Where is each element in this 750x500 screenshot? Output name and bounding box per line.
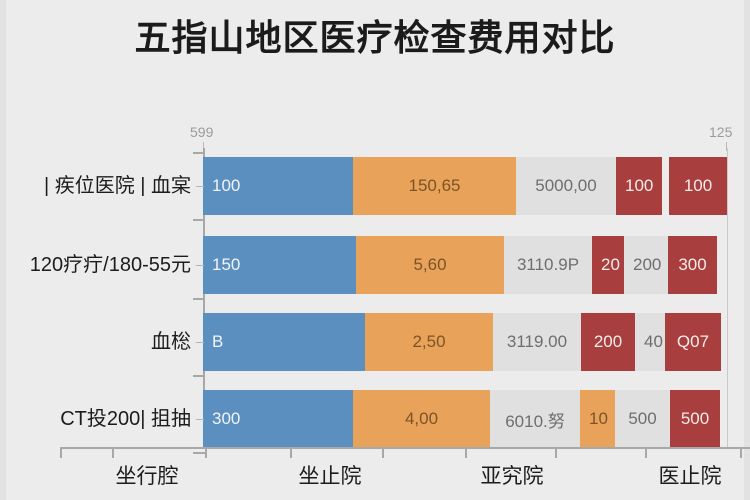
bar-segment-value: 200: [624, 255, 668, 275]
x-axis-tick-label: 医止院: [659, 460, 722, 490]
bar-segment-red[interactable]: Q07: [665, 313, 721, 371]
bar-segment-value: 150: [203, 255, 249, 275]
bar-segment-orange[interactable]: 150,65: [353, 157, 516, 215]
bar-segment-value: 150,65: [353, 176, 516, 196]
chart-container: 五指山地区医疗检查费用对比 599 125 100150,655000,0010…: [0, 0, 750, 500]
x-axis-tick-label: 坐行腔: [116, 460, 179, 490]
bar-segment-value: Q07: [665, 332, 721, 352]
y-axis-tick: [196, 265, 204, 266]
top-axis-tick-label-left: 599: [190, 124, 213, 140]
bar-segment-gray[interactable]: 40: [635, 313, 665, 371]
category-label: | 疾位医院 | 血宲: [0, 173, 191, 199]
bar-segment-value: 300: [203, 409, 249, 429]
category-label: 120疗疔/180-55元: [0, 252, 191, 278]
bar-segment-gray[interactable]: 200: [624, 236, 668, 294]
bar-segment-value: 6010.努: [490, 407, 580, 432]
y-axis-major-tick: [193, 298, 205, 300]
category-label: 血棇: [0, 329, 191, 355]
bar-segment-value: 20: [592, 255, 624, 275]
bar-segment-gray[interactable]: 3119.00: [493, 313, 581, 371]
plot-area: 100150,655000,001001001505,603110.9P2020…: [203, 150, 727, 446]
bar-segment-value: 3110.9P: [504, 255, 592, 275]
bar-segment-value: 3119.00: [493, 332, 581, 352]
bar-segment-value: 4,00: [353, 409, 490, 429]
bar-segment-orange[interactable]: 4,00: [353, 390, 490, 448]
x-axis-tick: [205, 447, 207, 458]
y-axis-tick: [196, 342, 204, 343]
bar-row[interactable]: B2,503119.0020040Q07: [203, 313, 727, 371]
bar-segment-orange[interactable]: 10: [580, 390, 615, 448]
bar-segment-value: B: [203, 332, 232, 352]
bar-segment-value: 500: [670, 409, 720, 429]
bar-segment-value: 10: [580, 409, 615, 429]
x-axis-tick: [555, 447, 557, 458]
bar-segment-value: 100: [203, 176, 249, 196]
bar-segment-value: 2,50: [365, 332, 493, 352]
top-axis-tick-label-right: 125: [709, 124, 732, 140]
bar-segment-red[interactable]: 500: [670, 390, 720, 448]
bar-segment-blue[interactable]: 100: [203, 157, 353, 215]
bar-segment-value: 500: [615, 409, 670, 429]
bar-segment-value: 100: [616, 176, 662, 196]
bar-segment-red[interactable]: 100: [616, 157, 662, 215]
bar-segment-blue[interactable]: 150: [203, 236, 356, 294]
x-axis-tick-label: 坐止院: [299, 460, 362, 490]
bar-row[interactable]: 100150,655000,00100100: [203, 157, 727, 215]
bar-segment-gray[interactable]: 3110.9P: [504, 236, 592, 294]
bar-segment-orange[interactable]: 5,60: [356, 236, 504, 294]
bar-segment-red[interactable]: 300: [668, 236, 717, 294]
x-axis-tick: [382, 447, 384, 458]
category-label: CT投200| 抯抽: [0, 406, 191, 432]
x-axis-tick: [740, 447, 742, 458]
x-axis-tick: [465, 447, 467, 458]
y-axis-major-tick: [193, 219, 205, 221]
bar-segment-value: 200: [581, 332, 635, 352]
bar-row[interactable]: 3004,006010.努10500500: [203, 390, 727, 448]
y-axis-major-tick: [193, 375, 205, 377]
bar-segment-orange[interactable]: 2,50: [365, 313, 493, 371]
bar-segment-gap[interactable]: [662, 157, 669, 215]
bar-segment-value: 40: [635, 332, 665, 352]
bar-segment-blue[interactable]: 300: [203, 390, 353, 448]
y-axis-tick: [196, 186, 204, 187]
page-edge-right: [744, 0, 750, 500]
bar-segment-red[interactable]: 20: [592, 236, 624, 294]
bar-segment-red[interactable]: 200: [581, 313, 635, 371]
bar-segment-gray[interactable]: 500: [615, 390, 670, 448]
chart-title: 五指山地区医疗检查费用对比: [0, 14, 750, 62]
x-axis-tick: [60, 447, 62, 458]
x-axis-tick: [645, 447, 647, 458]
x-axis-tick: [290, 447, 292, 458]
bar-row[interactable]: 1505,603110.9P20200300: [203, 236, 727, 294]
bar-segment-value: 5000,00: [516, 176, 616, 196]
bar-segment-value: 300: [668, 255, 717, 275]
x-axis-tick-label: 亚究院: [481, 460, 544, 490]
bar-segment-gray[interactable]: 6010.努: [490, 390, 580, 448]
bar-segment-value: 5,60: [356, 255, 504, 275]
y-axis-major-tick: [193, 152, 205, 154]
plot-right-border: [727, 148, 728, 448]
bar-segment-blue[interactable]: B: [203, 313, 365, 371]
y-axis-tick: [196, 419, 204, 420]
bar-segment-gray[interactable]: 5000,00: [516, 157, 616, 215]
y-axis-major-tick: [193, 452, 205, 454]
x-axis-tick: [112, 447, 114, 458]
bar-segment-value: 100: [669, 176, 727, 196]
bar-segment-red[interactable]: 100: [669, 157, 727, 215]
